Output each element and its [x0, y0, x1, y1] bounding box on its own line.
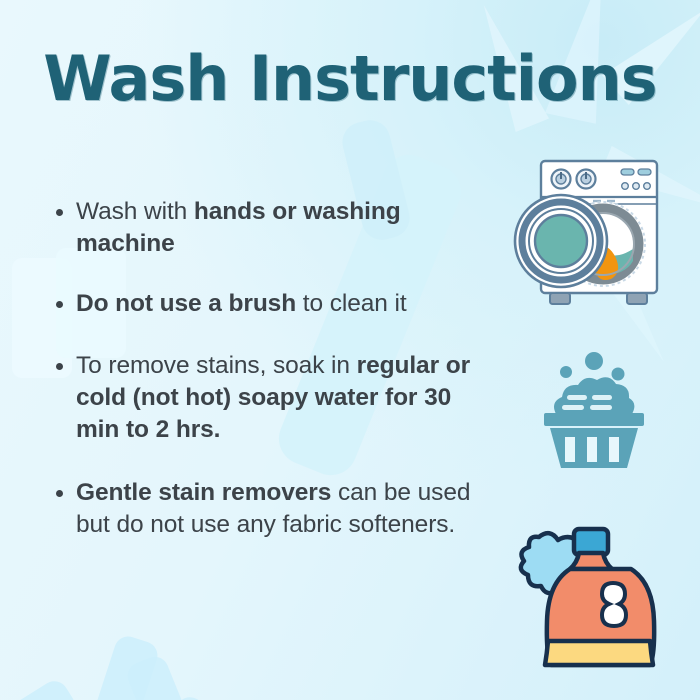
starburst-ray-bl-2	[123, 653, 218, 700]
text-segment: To remove stains, soak in	[76, 352, 357, 379]
list-item: Gentle stain removers can be used but do…	[56, 477, 501, 541]
bullet-dot-icon	[56, 209, 63, 216]
instruction-text-stain-soak: To remove stains, soak in regular or col…	[76, 350, 501, 446]
instructions-list: Wash with hands or washing machine Do no…	[56, 196, 501, 541]
laundry-basket-illustration	[534, 350, 654, 475]
laundry-basket-icon	[534, 350, 654, 470]
wash-instructions-poster: Wash Instructions Wash with hands or was…	[0, 0, 700, 700]
list-item: Do not use a brush to clean it	[56, 288, 501, 320]
list-item: Wash with hands or washing machine	[56, 196, 501, 260]
instruction-text-stain-removers: Gentle stain removers can be used but do…	[76, 477, 501, 541]
text-segment-bold: Gentle stain removers	[76, 479, 331, 506]
washing-machine-icon	[503, 141, 678, 311]
starburst-ray-bl-1	[73, 633, 161, 700]
washing-machine-illustration	[503, 141, 678, 316]
text-segment: Wash with	[76, 198, 194, 225]
text-segment-bold: Do not use a brush	[76, 290, 296, 317]
instruction-text-no-brush: Do not use a brush to clean it	[76, 288, 407, 320]
starburst-ray-bl-3	[0, 676, 80, 700]
instruction-text-wash-method: Wash with hands or washing machine	[76, 196, 501, 260]
bullet-dot-icon	[56, 301, 63, 308]
text-segment: to clean it	[296, 290, 406, 317]
detergent-bottle-illustration	[517, 519, 682, 684]
page-title: Wash Instructions	[0, 46, 700, 111]
detergent-bottle-icon	[517, 519, 682, 679]
bullet-dot-icon	[56, 363, 63, 370]
bullet-dot-icon	[56, 490, 63, 497]
starburst-ray-bl-4	[166, 692, 307, 700]
list-item: To remove stains, soak in regular or col…	[56, 350, 501, 446]
